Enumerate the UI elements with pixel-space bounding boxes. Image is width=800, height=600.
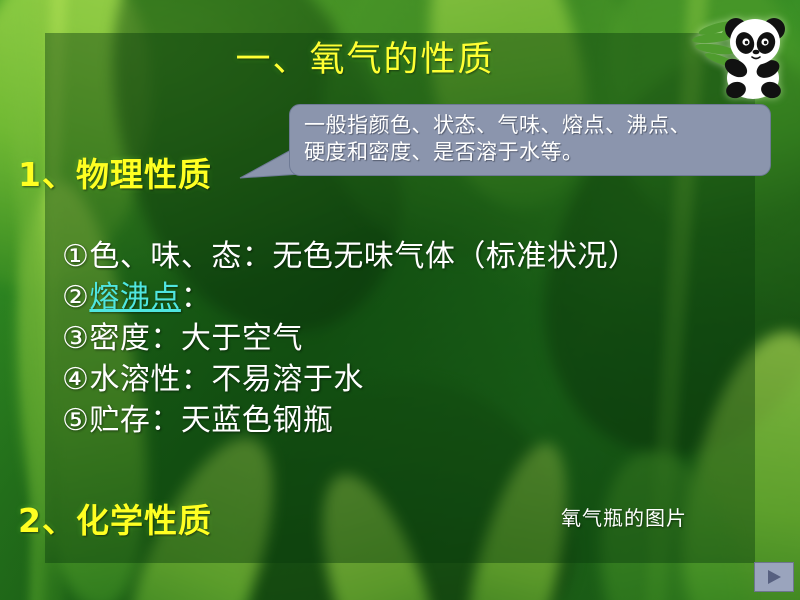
section-heading-chemical-properties: 2、化学性质 — [18, 494, 212, 542]
presentation-slide: 一、氧气的性质 1、物理性质 一般指颜色、状态、气味、熔点、沸点、 硬度和密度、… — [0, 0, 800, 600]
physical-properties-list: ①色、味、态：无色无味气体（标准状况）②熔沸点：③密度：大于空气④水溶性：不易溶… — [62, 236, 638, 441]
next-slide-button[interactable] — [754, 562, 794, 592]
property-value: 无色无味气体（标准状况） — [272, 239, 638, 274]
callout-definition-box: 一般指颜色、状态、气味、熔点、沸点、 硬度和密度、是否溶于水等。 — [289, 104, 771, 176]
property-value: ： — [181, 280, 212, 315]
property-link[interactable]: 熔沸点 — [89, 280, 181, 315]
property-value: 不易溶于水 — [211, 362, 364, 397]
property-marker: ⑤ — [62, 403, 89, 438]
image-caption: 氧气瓶的图片 — [561, 502, 687, 531]
property-label: 密度： — [89, 321, 181, 356]
property-label: 色、味、态： — [89, 239, 272, 274]
property-item: ⑤贮存：天蓝色钢瓶 — [62, 400, 638, 441]
page-title: 一、氧气的性质 — [45, 40, 685, 80]
property-item[interactable]: ②熔沸点： — [62, 277, 638, 318]
property-value: 天蓝色钢瓶 — [181, 403, 334, 438]
property-marker: ② — [62, 280, 89, 315]
section-heading-physical-properties: 1、物理性质 — [18, 148, 212, 196]
property-item: ③密度：大于空气 — [62, 318, 638, 359]
property-label: 贮存： — [89, 403, 181, 438]
callout-line-1: 一般指颜色、状态、气味、熔点、沸点、 — [304, 112, 756, 139]
property-marker: ③ — [62, 321, 89, 356]
panda-with-bamboo-icon — [683, 2, 797, 102]
property-marker: ④ — [62, 362, 89, 397]
property-label: 水溶性： — [89, 362, 211, 397]
property-marker: ① — [62, 239, 89, 274]
property-item: ④水溶性：不易溶于水 — [62, 359, 638, 400]
property-item: ①色、味、态：无色无味气体（标准状况） — [62, 236, 638, 277]
callout-line-2: 硬度和密度、是否溶于水等。 — [304, 139, 756, 166]
property-value: 大于空气 — [181, 321, 303, 356]
play-triangle-icon — [765, 568, 783, 586]
